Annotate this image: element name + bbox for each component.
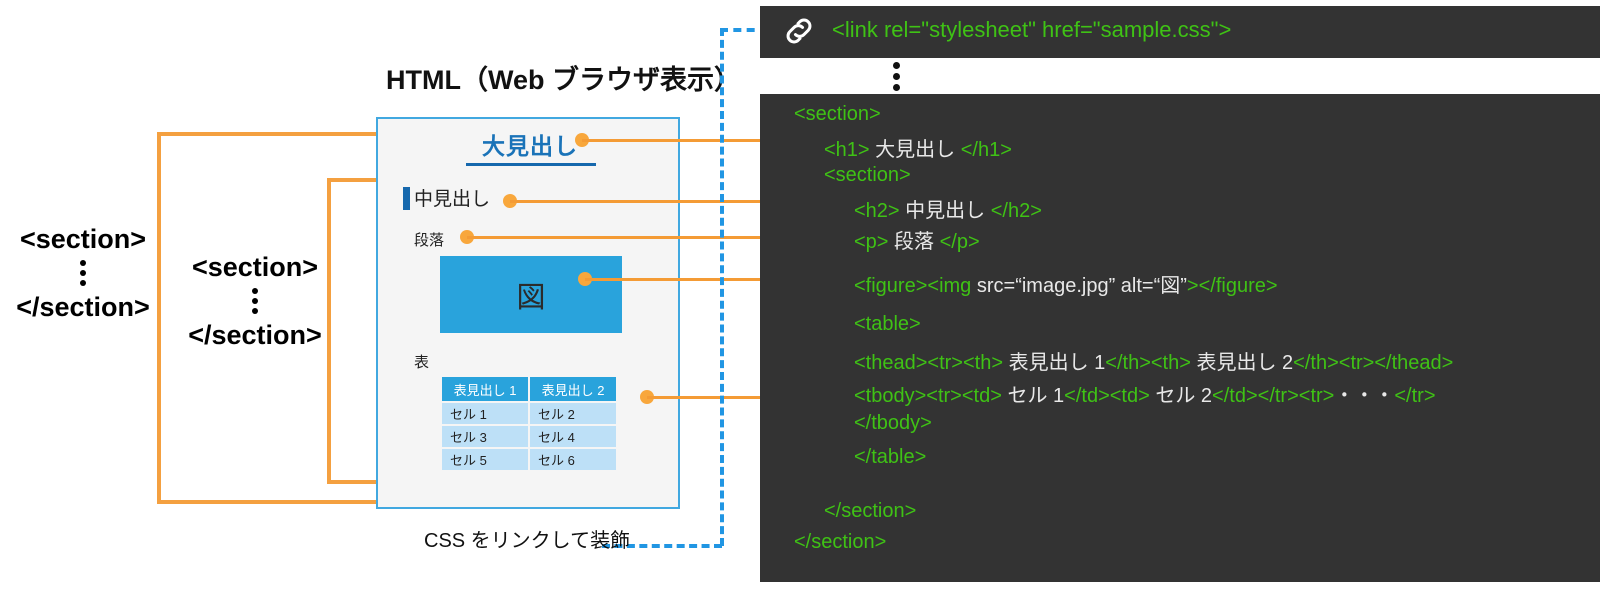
preview-h1-underline [466, 163, 596, 166]
table-cell: セル 2 [530, 403, 616, 424]
code-line: <section> [824, 164, 911, 187]
css-link-dash-vertical [720, 28, 724, 546]
code-tag: <tbody><tr><td> [854, 385, 1002, 407]
code-line: <h2> 中見出し </h2> [854, 194, 1042, 223]
code-tag: </p> [940, 231, 980, 253]
code-line: <table> [854, 313, 921, 336]
code-line: </table> [854, 446, 926, 469]
code-text-content: src=“image.jpg” alt=“図” [977, 275, 1187, 297]
preview-h1-heading: 大見出し [378, 127, 682, 161]
code-tag: </section> [824, 500, 916, 522]
code-text-content: セル 2 [1150, 385, 1212, 407]
html-source-panel: <section><h1> 大見出し </h1><section><h2> 中見… [760, 94, 1600, 582]
browser-panel-title: HTML（Web ブラウザ表示） [386, 58, 741, 97]
preview-paragraph: 段落 [414, 229, 444, 250]
preview-h2-accent-bar [403, 187, 410, 210]
outer-section-open-tag: <section> [8, 222, 158, 256]
code-tag: </figure> [1199, 275, 1278, 297]
code-text-content: セル 1 [1002, 385, 1064, 407]
outer-section-label-group: <section> </section> [8, 222, 158, 324]
code-tag: <h2> [854, 200, 900, 222]
preview-h2-heading: 中見出し [414, 184, 490, 211]
css-link-caption: CSS をリンクして装飾 [424, 524, 630, 553]
table-header-cell: 表見出し 1 [442, 377, 528, 401]
code-text-content: 中見出し [900, 200, 991, 222]
code-line: <p> 段落 </p> [854, 225, 980, 254]
code-tag: </th><tr></thead> [1293, 352, 1453, 374]
stylesheet-link-bar: <link rel="stylesheet" href="sample.css"… [760, 6, 1600, 58]
table-row: セル 3 セル 4 [442, 426, 616, 447]
table-row: セル 1 セル 2 [442, 403, 616, 424]
code-text-content: 表見出し 1 [1003, 352, 1105, 374]
code-line: <figure><img src=“image.jpg” alt=“図”></f… [854, 269, 1278, 298]
connector-line-h2 [510, 200, 800, 203]
preview-table-caption: 表 [414, 351, 429, 372]
table-cell: セル 4 [530, 426, 616, 447]
code-line: <tbody><tr><td> セル 1</td><td> セル 2</td><… [854, 379, 1436, 408]
code-line: <h1> 大見出し </h1> [824, 133, 1012, 162]
code-tag: > [1187, 275, 1199, 297]
table-cell: セル 5 [442, 449, 528, 470]
code-text-content: 表見出し 2 [1191, 352, 1293, 374]
stylesheet-link-code: <link rel="stylesheet" href="sample.css"… [832, 17, 1231, 43]
code-tag: <figure><img [854, 275, 977, 297]
code-tag: </tbody> [854, 412, 932, 434]
table-cell: セル 1 [442, 403, 528, 424]
link-icon [782, 14, 816, 48]
code-tag: </tr> [1394, 385, 1435, 407]
table-cell: セル 6 [530, 449, 616, 470]
code-tag: <p> [854, 231, 888, 253]
preview-figure-box: 図 [440, 256, 622, 333]
code-tag: </th><th> [1105, 352, 1191, 374]
code-text-content: 大見出し [870, 139, 961, 161]
preview-figure-label: 図 [440, 256, 622, 333]
table-cell: セル 3 [442, 426, 528, 447]
code-line: <thead><tr><th> 表見出し 1</th><th> 表見出し 2</… [854, 346, 1453, 375]
code-tag: </h2> [991, 200, 1042, 222]
code-line: </tbody> [854, 412, 932, 435]
code-tag: <h1> [824, 139, 870, 161]
code-tag: </h1> [961, 139, 1012, 161]
code-tag: </table> [854, 446, 926, 468]
code-tag: <table> [854, 313, 921, 335]
inner-section-bracket [327, 178, 381, 484]
table-row: セル 5 セル 6 [442, 449, 616, 470]
code-tag: <section> [794, 103, 881, 125]
code-tag: <section> [824, 164, 911, 186]
connector-line-paragraph [467, 236, 800, 239]
table-header-cell: 表見出し 2 [530, 377, 616, 401]
diagram-root: HTML（Web ブラウザ表示） HTML（ソースコード） <section> … [0, 0, 1600, 600]
browser-preview-panel: 大見出し 中見出し 段落 図 表 表見出し 1 表見出し 2 セル 1 セル 2 [376, 117, 680, 509]
code-line: </section> [794, 531, 886, 554]
code-line: </section> [824, 500, 916, 523]
code-gap-ellipsis [893, 58, 900, 95]
outer-section-close-tag: </section> [8, 290, 158, 324]
code-tag: <thead><tr><th> [854, 352, 1003, 374]
outer-section-ellipsis [8, 260, 158, 286]
preview-table: 表見出し 1 表見出し 2 セル 1 セル 2 セル 3 セル 4 セル 5 セ… [440, 375, 618, 472]
code-tag: </td></tr><tr> [1212, 385, 1334, 407]
code-text-content: 段落 [888, 231, 939, 253]
code-tag: </section> [794, 531, 886, 553]
code-line: <section> [794, 103, 881, 126]
code-text-content: ・・・ [1334, 385, 1394, 407]
code-tag: </td><td> [1064, 385, 1150, 407]
table-header-row: 表見出し 1 表見出し 2 [442, 377, 616, 401]
